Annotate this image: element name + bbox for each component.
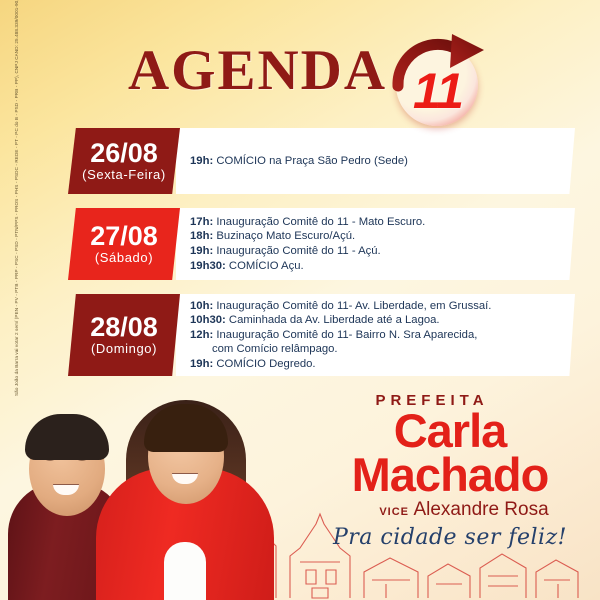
date-weekday: (Sábado): [95, 251, 153, 265]
page-title: AGENDA: [128, 38, 387, 103]
party-number-logo: 11: [390, 30, 490, 130]
legal-disclaimer-strip: São João da Barra vai votar 2 sem/ (PEN …: [0, 0, 34, 400]
event-item: 19h: COMÍCIO na Praça São Pedro (Sede): [190, 154, 575, 169]
date-badge-27-08: 27/08 (Sábado): [68, 208, 180, 280]
events-panel-26-08: 19h: COMÍCIO na Praça São Pedro (Sede): [176, 128, 575, 194]
event-item: 19h30: COMÍCIO Açu.: [190, 259, 575, 274]
candidate-branding: PREFEITA Carla Machado VICE Alexandre Ro…: [314, 392, 586, 550]
date-weekday: (Domingo): [91, 342, 157, 356]
event-time: 10h:: [190, 300, 213, 312]
candidate-last-name: Machado: [314, 453, 586, 497]
event-time: 18h:: [190, 230, 213, 242]
date-number: 26/08: [90, 140, 158, 168]
event-item: 12h: Inauguração Comitê do 11- Bairro N.…: [190, 328, 575, 343]
event-item: 18h: Buzinaço Mato Escuro/Açú.: [190, 229, 575, 244]
event-time: 10h30:: [190, 314, 226, 326]
candidate-photos: [0, 375, 300, 600]
events-panel-27-08: 17h: Inauguração Comitê do 11 - Mato Esc…: [176, 208, 575, 280]
event-time: 19h:: [190, 358, 213, 370]
event-item-continuation: com Comício relâmpago.: [190, 342, 575, 357]
event-text: Caminhada da Av. Liberdade até a Lagoa.: [226, 314, 440, 326]
event-text: Inauguração Comitê do 11- Bairro N. Sra …: [213, 329, 477, 341]
event-text: Buzinaço Mato Escuro/Açú.: [213, 230, 355, 242]
event-time: 19h30:: [190, 260, 226, 272]
event-text: COMÍCIO na Praça São Pedro (Sede): [213, 155, 408, 167]
vice-label: VICE: [379, 506, 409, 518]
event-item: 19h: COMÍCIO Degredo.: [190, 357, 575, 372]
event-item: 10h: Inauguração Comitê do 11- Av. Liber…: [190, 299, 575, 314]
event-time: 19h:: [190, 155, 213, 167]
vice-candidate-name: Alexandre Rosa: [413, 499, 548, 520]
event-time: 17h:: [190, 216, 213, 228]
legal-disclaimer-text: São João da Barra vai votar 2 sem/ (PEN …: [14, 4, 20, 396]
event-time: 12h:: [190, 329, 213, 341]
campaign-slogan: Pra cidade ser feliz!: [314, 525, 586, 550]
event-item: 19h: Inauguração Comitê do 11 - Açú.: [190, 244, 575, 259]
date-badge-28-08: 28/08 (Domingo): [68, 294, 180, 376]
event-item: 10h30: Caminhada da Av. Liberdade até a …: [190, 313, 575, 328]
date-number: 28/08: [90, 314, 158, 342]
date-weekday: (Sexta-Feira): [82, 168, 166, 182]
agenda-row: 26/08 (Sexta-Feira) 19h: COMÍCIO na Praç…: [0, 128, 600, 194]
date-badge-26-08: 26/08 (Sexta-Feira): [68, 128, 180, 194]
event-text: COMÍCIO Açu.: [226, 260, 304, 272]
agenda-row: 27/08 (Sábado) 17h: Inauguração Comitê d…: [0, 208, 600, 280]
campaign-agenda-poster: São João da Barra vai votar 2 sem/ (PEN …: [0, 0, 600, 600]
event-text: Inauguração Comitê do 11- Av. Liberdade,…: [213, 300, 491, 312]
event-text: Inauguração Comitê do 11 - Mato Escuro.: [213, 216, 425, 228]
event-time: 19h:: [190, 245, 213, 257]
event-text: Inauguração Comitê do 11 - Açú.: [213, 245, 380, 257]
candidate-first-name: Carla: [314, 409, 586, 453]
date-number: 27/08: [90, 223, 158, 251]
vice-candidate-row: VICE Alexandre Rosa: [314, 499, 586, 521]
agenda-row: 28/08 (Domingo) 10h: Inauguração Comitê …: [0, 294, 600, 376]
events-panel-28-08: 10h: Inauguração Comitê do 11- Av. Liber…: [176, 294, 575, 376]
event-text: COMÍCIO Degredo.: [213, 358, 315, 370]
poster-header: AGENDA 11: [0, 14, 600, 118]
mayor-white-top: [164, 542, 206, 600]
event-item: 17h: Inauguração Comitê do 11 - Mato Esc…: [190, 215, 575, 230]
agenda-rows: 26/08 (Sexta-Feira) 19h: COMÍCIO na Praç…: [0, 128, 600, 390]
mayor-candidate-photo: [96, 375, 274, 600]
party-number-text: 11: [390, 62, 486, 120]
event-text: com Comício relâmpago.: [212, 343, 338, 355]
